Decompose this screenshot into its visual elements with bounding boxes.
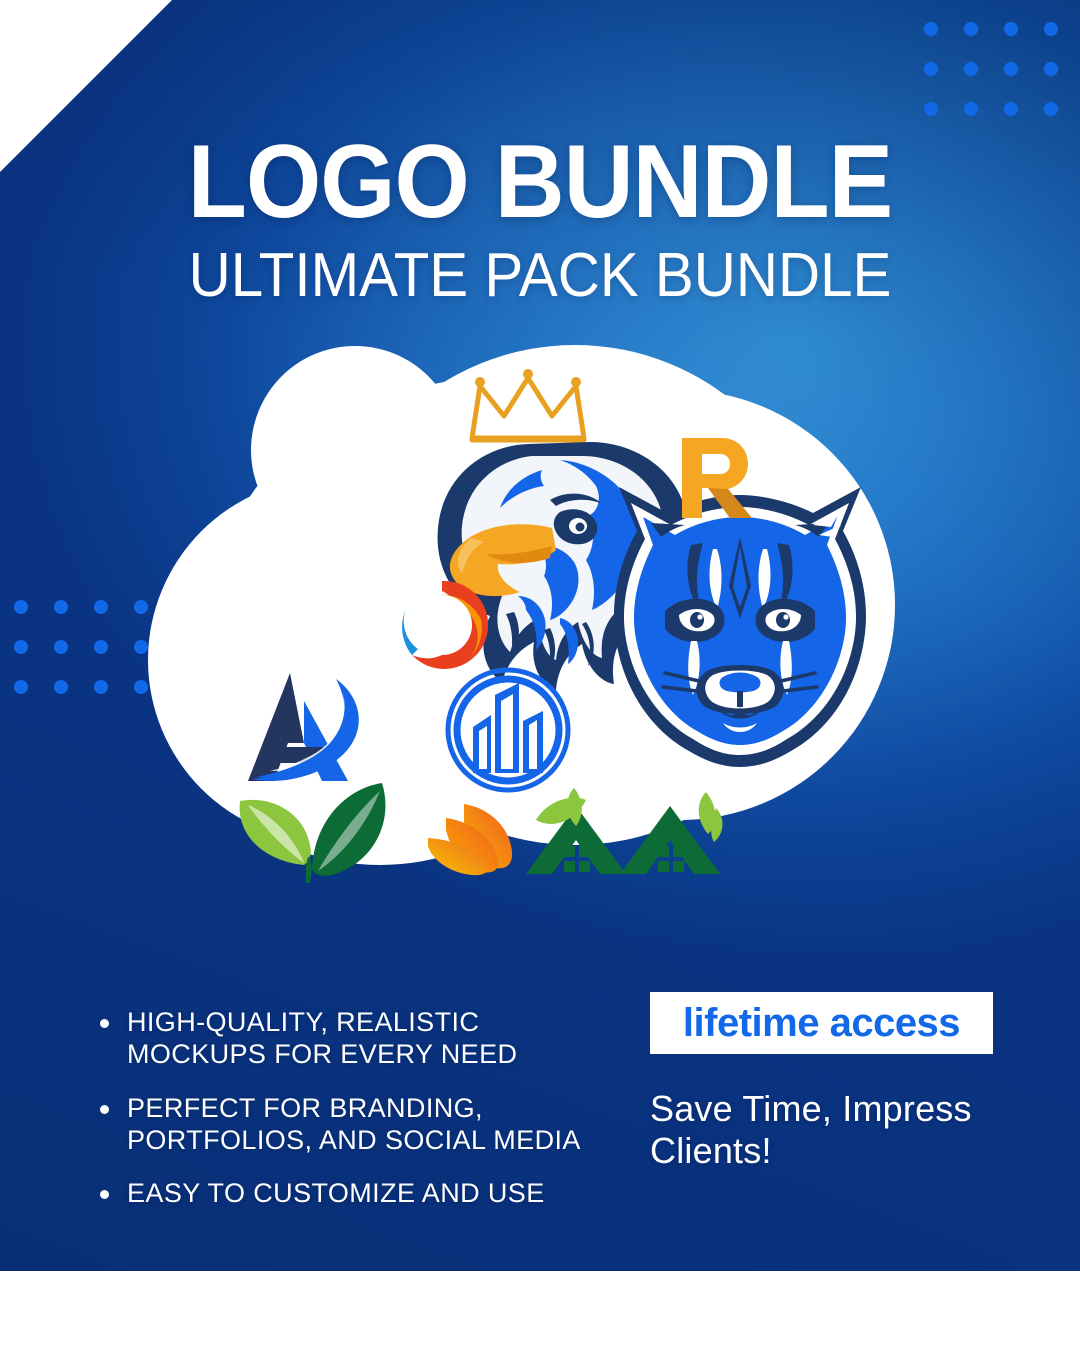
- orange-wing-logo: [418, 798, 528, 878]
- decor-dot: [924, 102, 938, 116]
- cta-block: lifetime access Save Time, Impress Clien…: [650, 992, 995, 1172]
- feature-text: EASY TO CUSTOMIZE AND USE: [127, 1178, 545, 1210]
- cta-subtext: Save Time, Impress Clients!: [650, 1088, 995, 1172]
- list-item: EASY TO CUSTOMIZE AND USE: [100, 1178, 605, 1210]
- decor-dot: [964, 22, 978, 36]
- feature-list: HIGH-QUALITY, REALISTIC MOCKUPS FOR EVER…: [100, 1007, 605, 1210]
- decor-dot: [1044, 62, 1058, 76]
- page-title: LOGO BUNDLE: [38, 133, 1042, 233]
- decor-dot: [924, 22, 938, 36]
- title-block: LOGO BUNDLE ULTIMATE PACK BUNDLE: [0, 133, 1080, 307]
- decor-dot: [1004, 102, 1018, 116]
- dot-grid-top-right: [924, 22, 1058, 116]
- eco-house-logo: [518, 780, 728, 890]
- bullet-icon: [100, 1190, 109, 1199]
- list-item: HIGH-QUALITY, REALISTIC MOCKUPS FOR EVER…: [100, 1007, 605, 1071]
- poster-canvas: LOGO BUNDLE ULTIMATE PACK BUNDLE: [0, 0, 1080, 1350]
- logo-collage: [0, 330, 1080, 980]
- feature-text: HIGH-QUALITY, REALISTIC MOCKUPS FOR EVER…: [127, 1007, 605, 1071]
- decor-dot: [1044, 102, 1058, 116]
- r-monogram-logo: [668, 430, 758, 522]
- decor-dot: [1004, 22, 1018, 36]
- decor-dot: [924, 62, 938, 76]
- decor-dot: [964, 102, 978, 116]
- page-subtitle: ULTIMATE PACK BUNDLE: [32, 245, 1047, 307]
- lifetime-access-label: lifetime access: [683, 1003, 960, 1043]
- decor-dot: [1004, 62, 1018, 76]
- list-item: PERFECT FOR BRANDING, PORTFOLIOS, AND SO…: [100, 1093, 605, 1157]
- bullet-icon: [100, 1019, 109, 1028]
- feature-text: PERFECT FOR BRANDING, PORTFOLIOS, AND SO…: [127, 1093, 605, 1157]
- building-circle-logo: [443, 665, 573, 795]
- decor-dot: [964, 62, 978, 76]
- a-leaf-logo: [218, 655, 408, 885]
- decor-dot: [1044, 22, 1058, 36]
- bullet-icon: [100, 1105, 109, 1114]
- lifetime-access-badge[interactable]: lifetime access: [650, 992, 993, 1054]
